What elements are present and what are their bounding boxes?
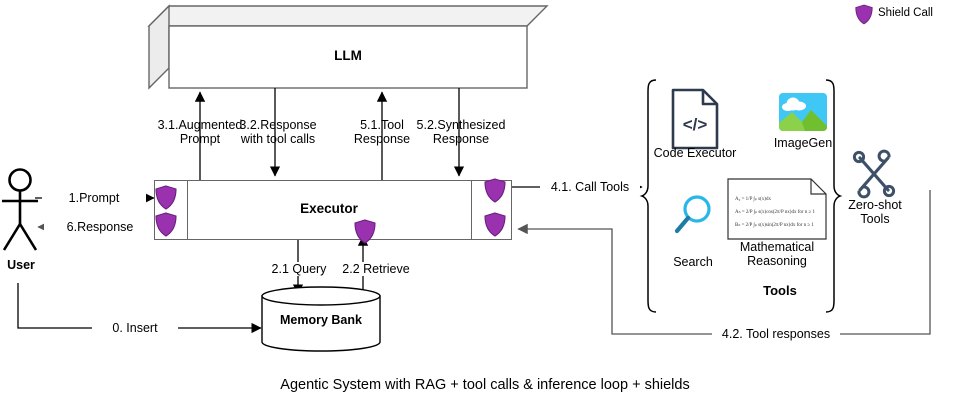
edge-label-4-1-call-tools: 4.1. Call Tools bbox=[540, 180, 640, 194]
edge-label-6-response: 6.Response bbox=[44, 220, 156, 234]
user-label: User bbox=[0, 258, 42, 272]
tool-zero-shot-label: Zero-shot Tools bbox=[838, 198, 912, 227]
tool-imagegen-label: ImageGen bbox=[762, 136, 844, 150]
diagram-canvas: LLM 3.1.A bbox=[0, 0, 970, 411]
tool-math-reasoning-label: Mathematical Reasoning bbox=[715, 240, 839, 269]
executor-node[interactable]: Executor bbox=[154, 180, 512, 240]
edge-label-5-2: 5.2.Synthesized Response bbox=[400, 118, 522, 147]
tool-math-reasoning[interactable]: A₀ = 1/P ∫ₚ s(x)dx Aₙ = 2/P ∫ₚ s(x)cos(2… bbox=[727, 178, 827, 240]
svg-text:Aₙ = 2/P ∫ₚ s(x)cos(2π/P nx)dx: Aₙ = 2/P ∫ₚ s(x)cos(2π/P nx)dx for n ≥ 1 bbox=[735, 209, 816, 215]
tool-search[interactable] bbox=[673, 193, 715, 237]
shield-icon-executor-out-1[interactable] bbox=[155, 212, 177, 237]
tool-zero-shot[interactable] bbox=[848, 148, 900, 200]
diagram-caption: Agentic System with RAG + tool calls & i… bbox=[0, 377, 970, 393]
shield-icon-executor-tools-out[interactable] bbox=[484, 178, 506, 203]
tool-code-executor-label: Code Executor bbox=[648, 146, 742, 160]
user-node[interactable] bbox=[0, 168, 52, 260]
legend-shield-icon bbox=[855, 4, 873, 25]
shield-icon-executor-tools-in[interactable] bbox=[484, 212, 506, 237]
shield-icon-executor-memory[interactable] bbox=[354, 219, 376, 244]
svg-text:A₀ = 1/P ∫ₚ s(x)dx: A₀ = 1/P ∫ₚ s(x)dx bbox=[735, 196, 771, 202]
svg-text:Bₙ = 2/P ∫ₚ s(x)sin(2π/P nx)dx: Bₙ = 2/P ∫ₚ s(x)sin(2π/P nx)dx for n ≥ 1 bbox=[735, 222, 814, 228]
executor-label: Executor bbox=[187, 201, 471, 217]
edge-label-2-2-retrieve: 2.2 Retrieve bbox=[332, 262, 420, 276]
tool-code-executor[interactable]: </> bbox=[670, 88, 720, 150]
edge-label-2-1-query: 2.1 Query bbox=[262, 262, 336, 276]
edge-label-1-prompt: 1.Prompt bbox=[42, 191, 146, 205]
edge-label-4-2-tool-responses: 4.2. Tool responses bbox=[712, 327, 840, 341]
shield-icon-executor-in-1[interactable] bbox=[155, 185, 177, 210]
edge-label-3-2: 3.2.Response with tool calls bbox=[218, 118, 338, 147]
tool-imagegen[interactable] bbox=[778, 92, 828, 132]
memory-bank-node[interactable]: Memory Bank bbox=[261, 286, 381, 352]
tools-group-label: Tools bbox=[710, 283, 850, 298]
legend-label: Shield Call bbox=[878, 7, 933, 19]
memory-bank-label: Memory Bank bbox=[261, 313, 381, 327]
edge-label-0-insert: 0. Insert bbox=[92, 321, 178, 335]
tool-search-label: Search bbox=[658, 255, 728, 269]
svg-text:</>: </> bbox=[683, 115, 708, 134]
